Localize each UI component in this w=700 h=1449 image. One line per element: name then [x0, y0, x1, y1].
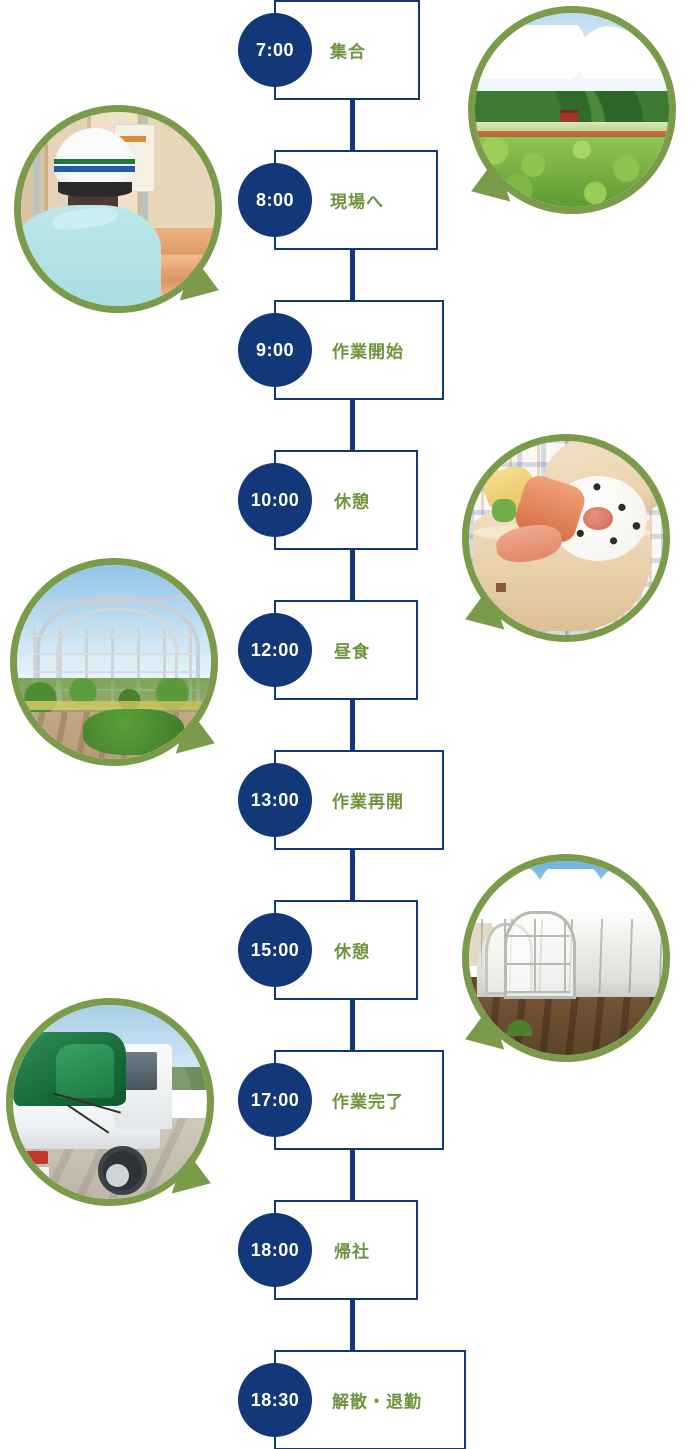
time-badge: 9:00	[238, 313, 312, 387]
bento-illustration	[469, 441, 663, 635]
connector-line	[350, 700, 355, 750]
timeline-label: 昼食	[334, 638, 370, 663]
timeline-label: 帰社	[334, 1238, 370, 1263]
photo-greenhouse-vinyl	[462, 854, 670, 1062]
timeline-label: 集合	[330, 38, 366, 63]
photo-ring-border	[462, 434, 670, 642]
connector-line	[350, 550, 355, 600]
photo-greenhouse-frame	[10, 558, 218, 766]
photo-ring-border	[10, 558, 218, 766]
timeline-label: 休憩	[334, 488, 370, 513]
connector-line	[350, 1150, 355, 1200]
connector-line	[350, 100, 355, 150]
time-badge: 17:00	[238, 1063, 312, 1137]
connector-line	[350, 1000, 355, 1050]
truck-illustration	[13, 1005, 207, 1199]
time-badge: 12:00	[238, 613, 312, 687]
timeline-label: 休憩	[334, 938, 370, 963]
timeline-label: 現場へ	[330, 188, 384, 213]
time-badge: 13:00	[238, 763, 312, 837]
farm-field-illustration	[475, 13, 669, 207]
time-badge: 8:00	[238, 163, 312, 237]
connector-line	[350, 250, 355, 300]
time-badge: 7:00	[238, 13, 312, 87]
photo-truck-tarp	[6, 998, 214, 1206]
timeline-label: 解散・退勤	[332, 1388, 422, 1413]
photo-ring-border	[462, 854, 670, 1062]
time-badge: 10:00	[238, 463, 312, 537]
greenhouse-vinyl-illustration	[469, 861, 663, 1055]
photo-ring-border	[14, 105, 222, 313]
schedule-timeline-infographic: 7:00 集合 8:00 現場へ 9:00 作業開始 10:00 休憩 12:0…	[0, 0, 700, 1449]
photo-worker-helmet	[14, 105, 222, 313]
photo-ring-border	[6, 998, 214, 1206]
worker-illustration	[21, 112, 215, 306]
connector-line	[350, 850, 355, 900]
photo-bento-lunch	[462, 434, 670, 642]
time-badge: 18:30	[238, 1363, 312, 1437]
connector-line	[350, 1300, 355, 1350]
timeline-label: 作業開始	[332, 338, 404, 363]
timeline-label: 作業完了	[332, 1088, 404, 1113]
time-badge: 15:00	[238, 913, 312, 987]
connector-line	[350, 400, 355, 450]
photo-ring-border	[468, 6, 676, 214]
time-badge: 18:00	[238, 1213, 312, 1287]
greenhouse-frame-illustration	[17, 565, 211, 759]
timeline-label: 作業再開	[332, 788, 404, 813]
photo-farm-field	[468, 6, 676, 214]
